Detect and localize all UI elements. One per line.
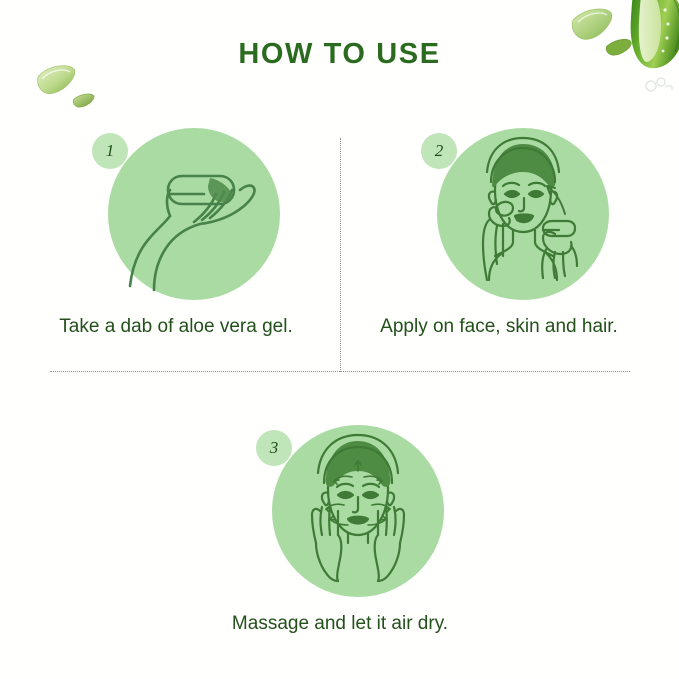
step-2-badge: 2 [421,133,457,169]
hand-with-gel-dab-icon [108,128,280,300]
how-to-use-infographic: HOW TO USE [0,0,679,679]
woman-applying-gel-to-face-icon [437,128,609,300]
step-1: 1 Take a [26,128,326,303]
step-3-caption: Massage and let it air dry. [190,613,490,635]
divider-vertical [340,138,341,372]
woman-massaging-face-with-both-hands-icon [272,425,444,597]
step-1-badge: 1 [92,133,128,169]
step-2: 2 [355,128,655,303]
step-1-illustration-wrap: 1 [26,128,326,303]
divider-horizontal [50,371,630,372]
step-1-caption: Take a dab of aloe vera gel. [26,316,326,338]
step-2-caption: Apply on face, skin and hair. [349,316,649,338]
step-2-illustration-wrap: 2 [355,128,655,303]
step-3: 3 [190,425,490,600]
step-3-badge: 3 [256,430,292,466]
step-3-illustration-wrap: 3 [190,425,490,600]
page-title: HOW TO USE [0,38,679,71]
